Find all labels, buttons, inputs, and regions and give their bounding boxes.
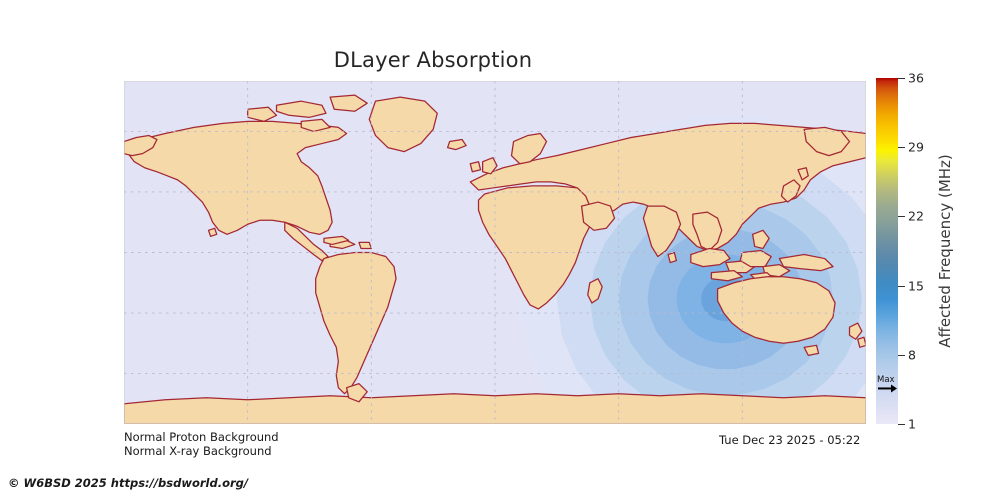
colorbar-tick [898, 78, 905, 79]
colorbar-tick-label: 22 [908, 209, 924, 224]
page-title: DLayer Absorption [0, 48, 866, 72]
colorbar-tick [898, 286, 905, 287]
world-map [124, 81, 866, 424]
colorbar-tick-label: 1 [908, 417, 916, 432]
colorbar-title-text: Affected Frequency (MHz) [936, 154, 954, 348]
colorbar-tick-label: 36 [908, 71, 924, 86]
timestamp: Tue Dec 23 2025 - 05:22 [719, 433, 860, 447]
colorbar-tick-label: 8 [908, 347, 916, 362]
proton-background-status: Normal Proton Background [124, 430, 279, 444]
colorbar-gradient [876, 78, 898, 424]
map-plot-area[interactable] [124, 81, 866, 424]
colorbar-tick-label: 29 [908, 140, 924, 155]
colorbar[interactable]: Max 3629221581 [876, 78, 898, 424]
colorbar-title: Affected Frequency (MHz) [934, 78, 956, 424]
xray-background-status: Normal X-ray Background [124, 444, 272, 458]
copyright-notice: © W6BSD 2025 https://bsdworld.org/ [8, 476, 248, 490]
colorbar-tick [898, 424, 905, 425]
colorbar-tick [898, 147, 905, 148]
colorbar-tick [898, 355, 905, 356]
figure-canvas: DLayer Absorption [0, 0, 1000, 500]
colorbar-tick-label: 15 [908, 278, 924, 293]
colorbar-tick [898, 216, 905, 217]
